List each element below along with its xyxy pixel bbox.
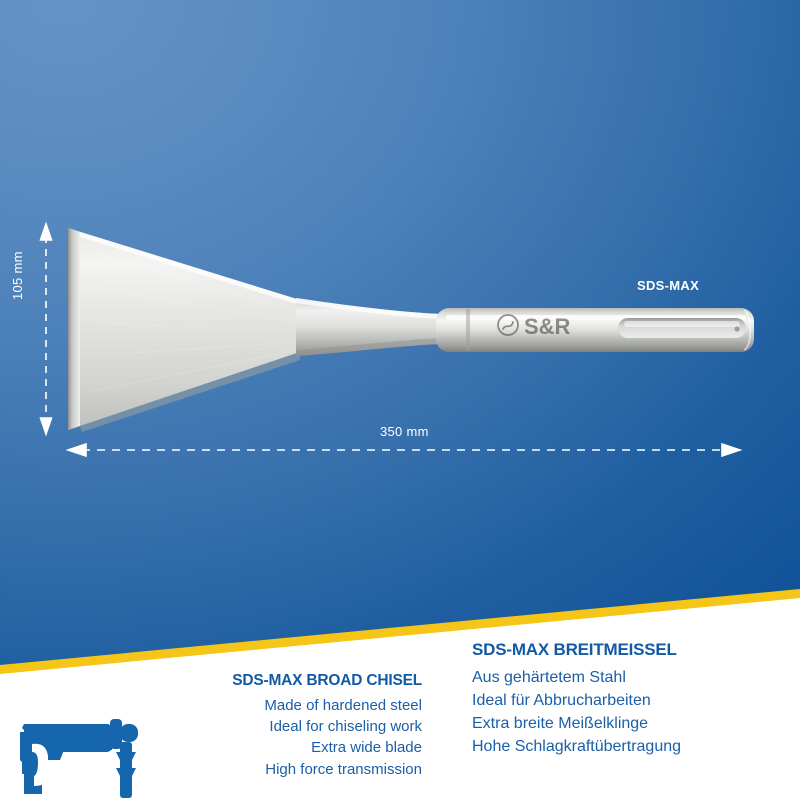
feature-line-de-2: Ideal für Abbrucharbeiten bbox=[472, 689, 792, 712]
feature-line-en-1: Made of hardened steel bbox=[150, 695, 422, 716]
dimension-line-horizontal bbox=[68, 444, 740, 456]
chisel-shank bbox=[436, 308, 754, 352]
brand-mark-text: S&R bbox=[524, 314, 571, 339]
blade-width-dimension-label: 105 mm bbox=[10, 251, 25, 300]
dimension-line-vertical bbox=[41, 224, 52, 434]
feature-line-en-4: High force transmission bbox=[150, 759, 422, 780]
feature-column-english: SDS-MAX BROAD CHISEL Made of hardened st… bbox=[150, 672, 422, 780]
shank-type-label: SDS-MAX bbox=[637, 278, 699, 293]
chisel-neck bbox=[296, 298, 440, 356]
chisel-blade bbox=[68, 228, 300, 432]
total-length-dimension-label: 350 mm bbox=[380, 424, 429, 439]
feature-line-de-3: Extra breite Meißelklinge bbox=[472, 712, 792, 735]
feature-title-english: SDS-MAX BROAD CHISEL bbox=[150, 672, 422, 690]
feature-line-en-3: Extra wide blade bbox=[150, 737, 422, 758]
rotary-hammer-drill-icon bbox=[12, 702, 162, 798]
feature-line-en-2: Ideal for chiseling work bbox=[150, 716, 422, 737]
feature-line-de-1: Aus gehärtetem Stahl bbox=[472, 666, 792, 689]
feature-title-german: SDS-MAX BREITMEISSEL bbox=[472, 640, 792, 660]
feature-column-german: SDS-MAX BREITMEISSEL Aus gehärtetem Stah… bbox=[472, 640, 792, 758]
feature-line-de-4: Hohe Schlagkraftübertragung bbox=[472, 735, 792, 758]
product-infographic: S&R 105 mm 350 mm SDS-MAX bbox=[0, 0, 800, 800]
